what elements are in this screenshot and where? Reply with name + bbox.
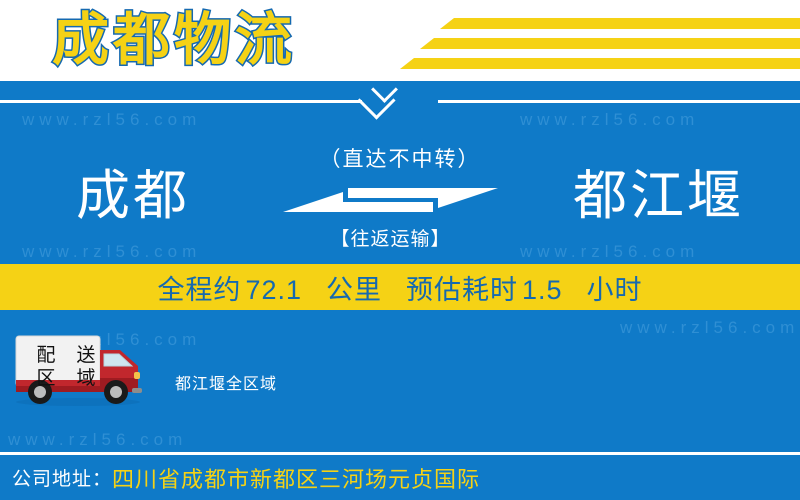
- distance-prefix: 全程约: [157, 275, 241, 305]
- time-unit: 小时: [587, 275, 643, 305]
- divider-line-left: [0, 100, 362, 103]
- truck-char-3: 区: [36, 368, 55, 390]
- watermark: www.rzl56.com: [520, 242, 699, 262]
- stripe-2: [420, 38, 800, 49]
- truck-char-1: 配: [36, 345, 55, 367]
- watermark: www.rzl56.com: [8, 430, 187, 450]
- time-prefix: 预估耗时: [406, 275, 518, 305]
- stripe-1: [440, 18, 800, 29]
- bidirectional-arrow-icon: [283, 178, 498, 222]
- watermark: www.rzl56.com: [22, 242, 201, 262]
- divider-line-right: [438, 100, 800, 103]
- stripe-3: [400, 58, 800, 69]
- chevron-divider: [0, 96, 800, 136]
- destination-city: 都江堰: [573, 165, 744, 227]
- watermark: www.rzl56.com: [620, 318, 799, 338]
- round-trip-label: 【往返运输】: [283, 224, 498, 251]
- address-bar: 公司地址： 四川省成都市新都区三河场元贞国际: [0, 455, 800, 500]
- truck-box-label: 配 送 区 域: [26, 344, 106, 391]
- distance-text: 全程约72.1公里预估耗时1.5小时: [155, 268, 644, 307]
- decorative-stripes: [380, 0, 800, 81]
- page-title: 成都物流: [52, 5, 296, 75]
- truck-char-2: 送: [76, 345, 95, 367]
- address-label: 公司地址：: [12, 464, 112, 491]
- time-value: 1.5: [522, 275, 563, 305]
- banner-header: 成都物流: [0, 0, 800, 81]
- logistics-banner: 成都物流 www.rzl56.com www.rzl56.com www.rzl…: [0, 0, 800, 500]
- distance-unit: 公里: [326, 275, 382, 305]
- coverage-area-text: 都江堰全区域: [175, 370, 277, 394]
- truck-char-4: 域: [76, 368, 95, 390]
- distance-bar: 全程约72.1公里预估耗时1.5小时: [0, 264, 800, 310]
- distance-value: 72.1: [245, 275, 302, 305]
- origin-city: 成都: [76, 165, 190, 227]
- address-value: 四川省成都市新都区三河场元贞国际: [112, 462, 480, 494]
- delivery-truck-icon: 配 送 区 域: [8, 330, 148, 406]
